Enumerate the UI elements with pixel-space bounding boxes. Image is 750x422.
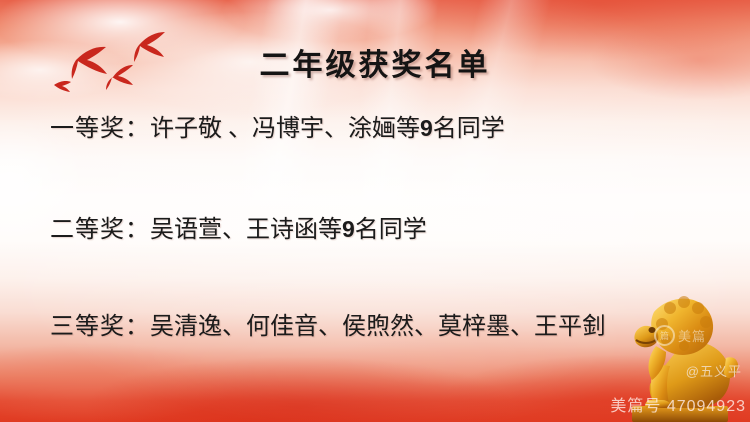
account-id-label: 美篇号	[610, 398, 661, 415]
award-names-first: 许子敬 、冯博宇、涂婳	[150, 116, 396, 142]
award-names-third: 吴清逸、何佳音、侯煦然、莫梓墨、王平釗	[150, 314, 606, 340]
award-suffix-post-second: 名同学	[355, 217, 427, 243]
award-suffix-pre-second: 等	[318, 217, 342, 243]
award-count-second: 9	[342, 216, 355, 242]
brand-mark-icon: 篇	[654, 325, 675, 346]
page-title: 二年级获奖名单	[0, 40, 750, 84]
brand-watermark-label: 美篇	[678, 326, 706, 345]
award-row-second-prize: 二等奖：吴语萱、王诗函等9名同学	[50, 209, 710, 244]
award-count-first: 9	[420, 115, 433, 141]
award-names-second: 吴语萱、王诗函	[150, 217, 318, 243]
award-list: 一等奖：许子敬 、冯博宇、涂婳等9名同学 二等奖：吴语萱、王诗函等9名同学 三等…	[50, 104, 710, 341]
account-id-watermark: 美篇号 47094923	[610, 392, 746, 416]
award-suffix-post-first: 名同学	[433, 116, 505, 142]
award-suffix-pre-first: 等	[396, 116, 420, 142]
award-label-second: 二等奖：	[50, 217, 150, 243]
slide-canvas: 二年级获奖名单 一等奖：许子敬 、冯博宇、涂婳等9名同学 二等奖：吴语萱、王诗函…	[0, 0, 750, 422]
author-watermark: @五义平	[686, 361, 742, 380]
brand-watermark: 篇 美篇	[654, 325, 706, 346]
account-id-number: 47094923	[667, 398, 746, 415]
award-row-third-prize: 三等奖：吴清逸、何佳音、侯煦然、莫梓墨、王平釗	[50, 306, 710, 341]
award-label-third: 三等奖：	[50, 314, 150, 340]
award-row-first-prize: 一等奖：许子敬 、冯博宇、涂婳等9名同学	[50, 108, 710, 143]
award-label-first: 一等奖：	[50, 116, 150, 142]
